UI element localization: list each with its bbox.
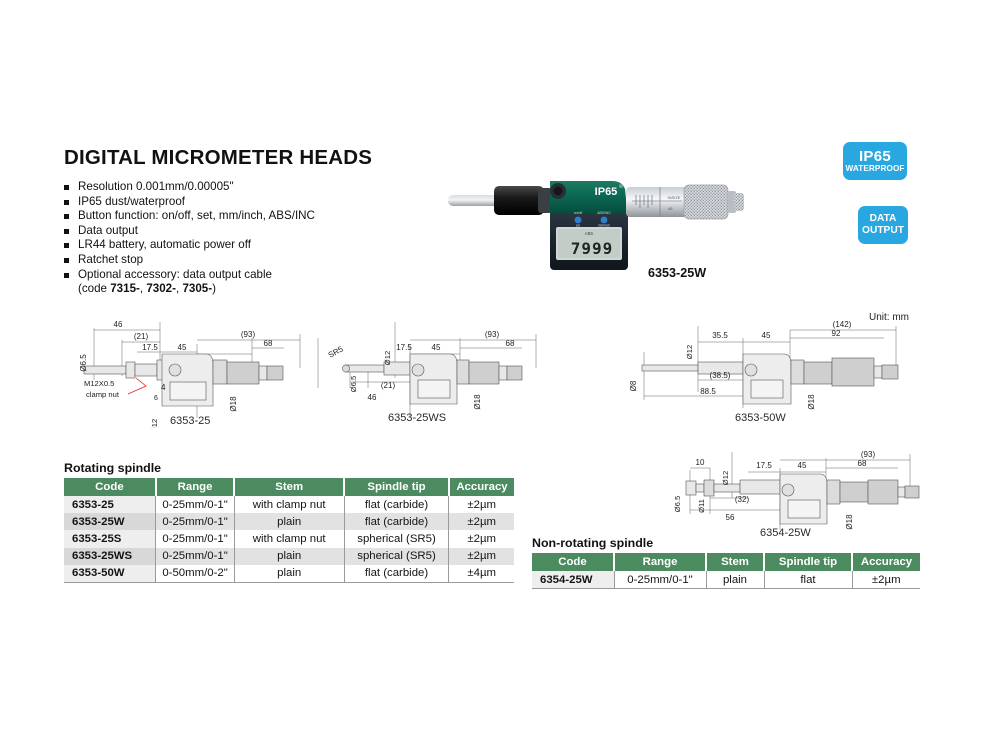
table-row: 6353-25WS0-25mm/0-1"plainspherical (SR5)…: [64, 548, 514, 565]
svg-text:17.5: 17.5: [756, 461, 772, 470]
cell-code: 6354-25W: [532, 571, 614, 589]
table-row: 6353-250-25mm/0-1"with clamp nutflat (ca…: [64, 496, 514, 513]
column-header-spindle-tip: Spindle tip: [764, 553, 852, 571]
feature-text: Resolution 0.001mm/0.00005": [78, 180, 234, 193]
cell-stem: plain: [234, 565, 344, 583]
svg-text:Ø18: Ø18: [473, 394, 482, 410]
bullet-square-icon: [64, 200, 69, 205]
svg-text:45: 45: [178, 343, 187, 352]
svg-text:(93): (93): [485, 330, 500, 339]
badge-ip65-line1: IP65: [859, 149, 891, 164]
cell-spindle-tip: flat (carbide): [344, 565, 449, 583]
cell-spindle-tip: flat (carbide): [344, 496, 449, 513]
cell-code: 6353-50W: [64, 565, 156, 583]
badge-data-line2: OUTPUT: [862, 225, 904, 237]
feature-item: Optional accessory: data output cable(co…: [64, 268, 394, 297]
badge-data-line1: DATA: [870, 213, 897, 225]
bullet-square-icon: [64, 273, 69, 278]
cell-range: 0-25mm/0-1": [156, 530, 234, 547]
cell-stem: plain: [234, 513, 344, 530]
svg-text:Ø11: Ø11: [697, 499, 706, 513]
cell-range: 0-25mm/0-1": [614, 571, 706, 589]
cell-accuracy: ±2µm: [449, 548, 514, 565]
svg-text:45: 45: [798, 461, 807, 470]
svg-text:17.5: 17.5: [142, 343, 158, 352]
micrometer-photo-svg: IP65 ABS 7999 on/off ABS/INC set mm/inch: [446, 165, 746, 275]
svg-text:Ø18: Ø18: [845, 514, 854, 530]
cell-range: 0-25mm/0-1": [156, 513, 234, 530]
svg-text:Ø18: Ø18: [807, 394, 816, 410]
cell-code: 6353-25W: [64, 513, 156, 530]
table-title-rotating: Rotating spindle: [64, 461, 161, 475]
table-header-row: CodeRangeStemSpindle tipAccuracy: [64, 478, 514, 496]
feature-text: IP65 dust/waterproof: [78, 195, 185, 208]
svg-text:Ø12: Ø12: [685, 345, 694, 359]
cell-range: 0-25mm/0-1": [156, 496, 234, 513]
feature-list: Resolution 0.001mm/0.00005"IP65 dust/wat…: [64, 180, 394, 297]
column-header-accuracy: Accuracy: [449, 478, 514, 496]
cell-accuracy: ±2µm: [449, 530, 514, 547]
feature-item: Button function: on/off, set, mm/inch, A…: [64, 209, 394, 224]
cell-code: 6353-25S: [64, 530, 156, 547]
cell-code: 6353-25: [64, 496, 156, 513]
drawing-caption-1: 6353-25: [170, 415, 210, 427]
drawing-caption-4: 6354-25W: [760, 527, 811, 539]
cell-spindle-tip: flat (carbide): [344, 513, 449, 530]
cell-accuracy: ±2µm: [852, 571, 920, 589]
table-row: 6354-25W0-25mm/0-1"plainflat±2µm: [532, 571, 920, 589]
cell-stem: with clamp nut: [234, 530, 344, 547]
drawing-svg-6353-25: 46 (21) 17.5 45 (93) 68 Ø6.5 M12X0.5 4 6…: [62, 308, 312, 428]
feature-item: IP65 dust/waterproof: [64, 195, 394, 210]
cell-accuracy: ±4µm: [449, 565, 514, 583]
svg-text:Ø18: Ø18: [229, 396, 238, 412]
feature-text: Button function: on/off, set, mm/inch, A…: [78, 209, 315, 222]
column-header-range: Range: [156, 478, 234, 496]
svg-text:Ø12: Ø12: [721, 471, 730, 485]
svg-text:35.5: 35.5: [712, 331, 728, 340]
cell-stem: with clamp nut: [234, 496, 344, 513]
product-photo-6353-25w: IP65 ABS 7999 on/off ABS/INC set mm/inch: [446, 165, 746, 275]
bullet-square-icon: [64, 258, 69, 263]
svg-text:68: 68: [858, 459, 867, 468]
svg-text:68: 68: [506, 339, 515, 348]
column-header-code: Code: [532, 553, 614, 571]
drawing-caption-2: 6353-25WS: [388, 412, 446, 424]
feature-item: Data output: [64, 224, 394, 239]
clamp-nut-label: clamp nut: [86, 390, 120, 399]
table-title-nonrotating: Non-rotating spindle: [532, 536, 653, 550]
column-header-stem: Stem: [706, 553, 764, 571]
table-rotating-spindle: CodeRangeStemSpindle tipAccuracy 6353-25…: [64, 478, 514, 583]
svg-text:(38.5): (38.5): [710, 371, 731, 380]
svg-text:10: 10: [696, 458, 705, 467]
cell-spindle-tip: spherical (SR5): [344, 548, 449, 565]
feature-item: Resolution 0.001mm/0.00005": [64, 180, 394, 195]
table-body: 6354-25W0-25mm/0-1"plainflat±2µm: [532, 571, 920, 589]
catalog-page: DIGITAL MICROMETER HEADS Resolution 0.00…: [0, 0, 1000, 736]
column-header-spindle-tip: Spindle tip: [344, 478, 449, 496]
page-title: DIGITAL MICROMETER HEADS: [64, 146, 372, 170]
cell-spindle-tip: spherical (SR5): [344, 530, 449, 547]
svg-text:56: 56: [726, 513, 735, 522]
svg-text:ABS/INC: ABS/INC: [597, 211, 611, 215]
svg-text:(21): (21): [134, 332, 149, 341]
svg-text:SR5: SR5: [327, 344, 345, 360]
table-row: 6353-25S0-25mm/0-1"with clamp nutspheric…: [64, 530, 514, 547]
photo-lcd-small: ABS: [585, 231, 594, 236]
svg-text:set: set: [576, 224, 580, 228]
svg-text:mm/inch: mm/inch: [598, 224, 610, 228]
column-header-stem: Stem: [234, 478, 344, 496]
feature-item: LR44 battery, automatic power off: [64, 238, 394, 253]
feature-item: Ratchet stop: [64, 253, 394, 268]
svg-text:46: 46: [368, 393, 377, 402]
svg-text:M12X0.5: M12X0.5: [84, 379, 114, 388]
cell-accuracy: ±2µm: [449, 513, 514, 530]
svg-text:45: 45: [432, 343, 441, 352]
bullet-square-icon: [64, 243, 69, 248]
svg-text:(21): (21): [381, 381, 396, 390]
table-header-row: CodeRangeStemSpindle tipAccuracy: [532, 553, 920, 571]
svg-text:Ø6.5: Ø6.5: [673, 496, 682, 512]
feature-subtext: (code 7315-, 7302-, 7305-): [78, 282, 394, 297]
drawing-svg-6353-25ws: SR5 Ø12 17.5 45 (93) 68 Ø6.5 (21) 46 Ø18: [300, 308, 550, 428]
table-body: 6353-250-25mm/0-1"with clamp nutflat (ca…: [64, 496, 514, 582]
bullet-square-icon: [64, 214, 69, 219]
svg-text:Ø12: Ø12: [383, 351, 392, 365]
photo-lcd-value: 7999: [571, 239, 614, 258]
svg-text:Ø6.5: Ø6.5: [79, 354, 88, 372]
cell-code: 6353-25WS: [64, 548, 156, 565]
svg-text:88.5: 88.5: [700, 387, 716, 396]
photo-brand: INSIZE: [668, 195, 681, 200]
svg-text:6: 6: [154, 395, 158, 402]
svg-text:17.5: 17.5: [396, 343, 412, 352]
feature-text: Optional accessory: data output cable: [78, 268, 272, 281]
badge-ip65-waterproof: IP65 WATERPROOF: [843, 142, 907, 180]
svg-text:(32): (32): [735, 495, 750, 504]
bullet-square-icon: [64, 229, 69, 234]
svg-text:Ø6.5: Ø6.5: [349, 376, 358, 392]
feature-text: Data output: [78, 224, 138, 237]
table-row: 6353-50W0-50mm/0-2"plainflat (carbide)±4…: [64, 565, 514, 583]
svg-text:(93): (93): [861, 450, 876, 459]
cell-range: 0-25mm/0-1": [156, 548, 234, 565]
drawing-svg-6353-50w: Ø12 35.5 45 (142) 92 Ø8 (38.5) 88.5 Ø18: [608, 308, 908, 428]
cell-spindle-tip: flat: [764, 571, 852, 589]
svg-text:4: 4: [161, 383, 166, 392]
column-header-accuracy: Accuracy: [852, 553, 920, 571]
badge-data-output: DATA OUTPUT: [858, 206, 908, 244]
product-caption: 6353-25W: [648, 266, 706, 280]
table-row: 6353-25W0-25mm/0-1"plainflat (carbide)±2…: [64, 513, 514, 530]
table-nonrotating-spindle: CodeRangeStemSpindle tipAccuracy 6354-25…: [532, 553, 920, 589]
svg-text:(93): (93): [241, 330, 256, 339]
photo-ip65-label: IP65: [595, 186, 618, 198]
column-header-range: Range: [614, 553, 706, 571]
cell-stem: plain: [234, 548, 344, 565]
badge-ip65-line2: WATERPROOF: [845, 164, 904, 174]
column-header-code: Code: [64, 478, 156, 496]
bullet-square-icon: [64, 185, 69, 190]
svg-text:92: 92: [832, 329, 841, 338]
svg-text:(142): (142): [833, 320, 852, 329]
svg-text:Ø12: Ø12: [150, 419, 159, 428]
feature-text: LR44 battery, automatic power off: [78, 238, 251, 251]
cell-range: 0-50mm/0-2": [156, 565, 234, 583]
feature-text: Ratchet stop: [78, 253, 143, 266]
drawing-caption-3: 6353-50W: [735, 412, 786, 424]
svg-text:68: 68: [264, 339, 273, 348]
cell-stem: plain: [706, 571, 764, 589]
svg-text:45: 45: [762, 331, 771, 340]
svg-text:46: 46: [114, 320, 123, 329]
svg-text:45: 45: [668, 206, 673, 211]
svg-text:on/off: on/off: [574, 211, 582, 215]
svg-text:Ø8: Ø8: [629, 380, 638, 391]
cell-accuracy: ±2µm: [449, 496, 514, 513]
